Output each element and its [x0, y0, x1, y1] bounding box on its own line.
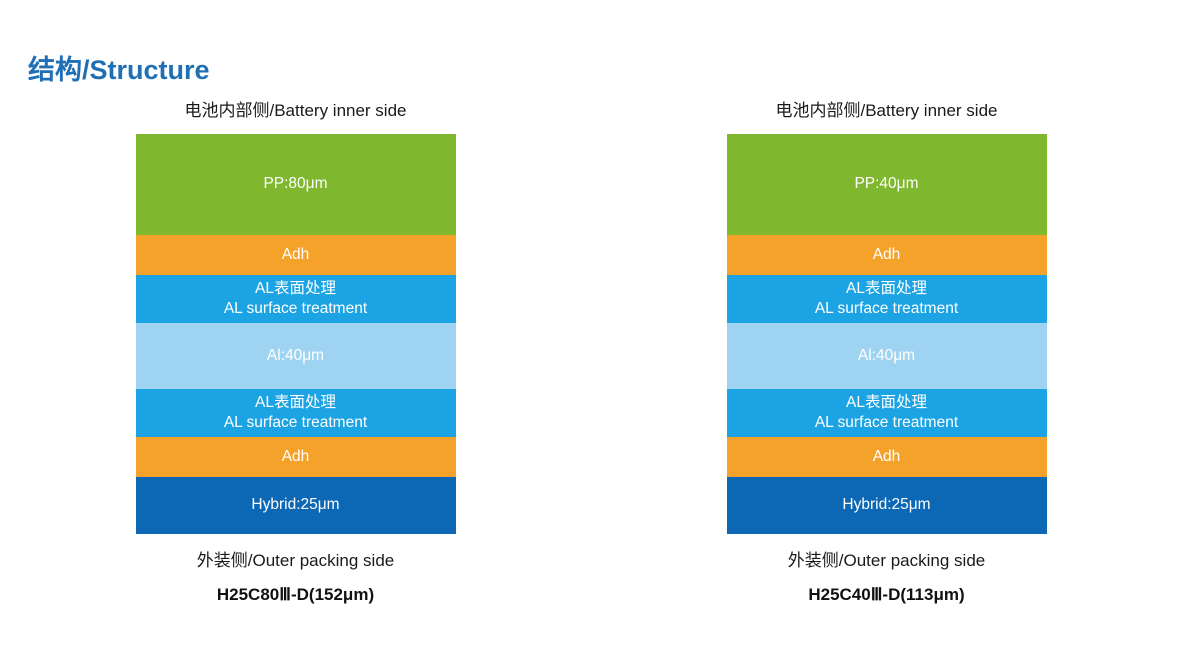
layer-label-two-line: AL表面处理 AL surface treatment [224, 393, 367, 433]
product-name-right: H25C40Ⅲ-D(113μm) [808, 585, 964, 605]
structure-diagrams: 电池内部侧/Battery inner side PP:80μm Adh AL表… [0, 96, 1182, 605]
layer-hybrid: Hybrid:25μm [727, 477, 1047, 534]
layer-adh-bottom: Adh [136, 437, 456, 477]
layer-label: Adh [873, 447, 901, 467]
layer-label-line1: AL表面处理 [846, 394, 927, 411]
layer-pp: PP:40μm [727, 134, 1047, 235]
diagram-h25c80: 电池内部侧/Battery inner side PP:80μm Adh AL表… [0, 96, 591, 605]
layer-label-line2: AL surface treatment [224, 413, 367, 433]
layer-label-line1: AL表面处理 [255, 394, 336, 411]
layer-stack-right: PP:40μm Adh AL表面处理 AL surface treatment … [727, 134, 1047, 534]
layer-label: Al:40μm [858, 346, 915, 366]
layer-adh-top: Adh [136, 235, 456, 275]
layer-label: Adh [282, 245, 310, 265]
outer-packing-side-label-right: 外装侧/Outer packing side [788, 546, 985, 571]
layer-aluminium: Al:40μm [727, 323, 1047, 389]
diagram-h25c40: 电池内部侧/Battery inner side PP:40μm Adh AL表… [591, 96, 1182, 605]
battery-inner-side-label-right: 电池内部侧/Battery inner side [775, 96, 997, 121]
layer-label: PP:80μm [263, 174, 327, 194]
outer-packing-side-label-left: 外装侧/Outer packing side [197, 546, 394, 571]
layer-pp: PP:80μm [136, 134, 456, 235]
layer-stack-left: PP:80μm Adh AL表面处理 AL surface treatment … [136, 134, 456, 534]
battery-inner-side-label-left: 电池内部侧/Battery inner side [184, 96, 406, 121]
layer-al-surface-treatment-bottom: AL表面处理 AL surface treatment [136, 389, 456, 437]
layer-label: PP:40μm [854, 174, 918, 194]
page-title: 结构/Structure [28, 48, 210, 87]
layer-label: Hybrid:25μm [842, 495, 930, 515]
layer-al-surface-treatment-top: AL表面处理 AL surface treatment [136, 275, 456, 323]
layer-label-line1: AL表面处理 [255, 280, 336, 297]
layer-label-line2: AL surface treatment [815, 413, 958, 433]
layer-label: Al:40μm [267, 346, 324, 366]
layer-al-surface-treatment-top: AL表面处理 AL surface treatment [727, 275, 1047, 323]
layer-label-two-line: AL表面处理 AL surface treatment [815, 393, 958, 433]
layer-adh-top: Adh [727, 235, 1047, 275]
layer-label: Adh [873, 245, 901, 265]
layer-label: Hybrid:25μm [251, 495, 339, 515]
layer-label: Adh [282, 447, 310, 467]
layer-label-line2: AL surface treatment [815, 299, 958, 319]
layer-label-line1: AL表面处理 [846, 280, 927, 297]
layer-al-surface-treatment-bottom: AL表面处理 AL surface treatment [727, 389, 1047, 437]
layer-aluminium: Al:40μm [136, 323, 456, 389]
product-name-left: H25C80Ⅲ-D(152μm) [217, 585, 374, 605]
layer-label-line2: AL surface treatment [224, 299, 367, 319]
layer-adh-bottom: Adh [727, 437, 1047, 477]
layer-label-two-line: AL表面处理 AL surface treatment [815, 279, 958, 319]
layer-label-two-line: AL表面处理 AL surface treatment [224, 279, 367, 319]
layer-hybrid: Hybrid:25μm [136, 477, 456, 534]
